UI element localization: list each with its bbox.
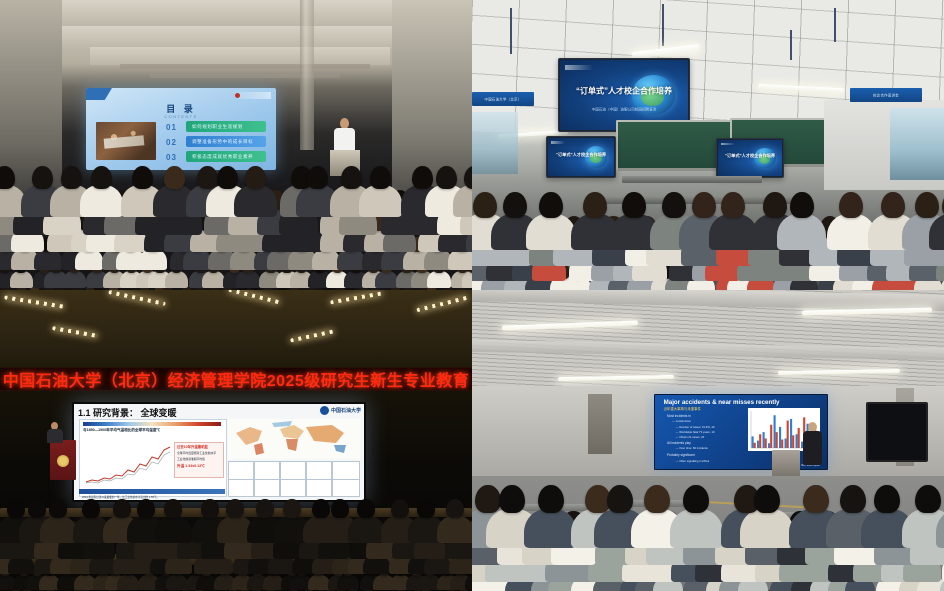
audience-head bbox=[607, 485, 633, 513]
audience-shoulders bbox=[183, 249, 211, 270]
panel-bottom-right: Major accidents & near misses recently 近… bbox=[472, 290, 944, 591]
audience-head bbox=[436, 166, 457, 189]
audience-head bbox=[583, 192, 607, 218]
speaker bbox=[46, 422, 64, 444]
slide-title: “订单式”人才校企合作培养 bbox=[556, 152, 606, 158]
slide-title: Major accidents & near misses recently bbox=[664, 399, 780, 406]
pillar bbox=[300, 0, 314, 150]
audience-head bbox=[790, 192, 814, 218]
audience-shoulders bbox=[117, 575, 139, 591]
slide-bullet: Most incidents in bbox=[667, 414, 691, 418]
slide-logo bbox=[551, 141, 566, 144]
audience-shoulders bbox=[34, 249, 62, 270]
audience-shoulders bbox=[139, 249, 167, 270]
slide-corner-decoration bbox=[86, 88, 112, 100]
audience-shoulders bbox=[75, 249, 103, 270]
audience-head bbox=[754, 485, 780, 513]
audience-head bbox=[839, 192, 863, 218]
audience-head bbox=[622, 192, 646, 218]
slide-bullet: — Others 21 cases, 20 bbox=[676, 435, 705, 439]
banner-text: 中国石油大学（北京） bbox=[485, 97, 522, 102]
chart-title: 与1850—1900年平均气温相比的全球平均温度℃ bbox=[83, 428, 160, 432]
audience-head bbox=[683, 485, 709, 513]
callout-line: 全球平均温度相对工业化前水平 bbox=[177, 451, 216, 455]
led-banner: 中国石油大学（北京）经济管理学院2025级研究生新生专业教育 bbox=[0, 367, 472, 391]
audience-shoulders bbox=[427, 271, 450, 288]
audience-head bbox=[464, 166, 472, 189]
audience-head bbox=[412, 166, 433, 189]
slide-item-label: 如何规划职业生涯规划 bbox=[192, 124, 243, 130]
audience-shoulders bbox=[80, 185, 123, 217]
slide-bullet: Probably significant bbox=[667, 453, 695, 457]
audience-shoulders bbox=[448, 249, 472, 270]
audience-shoulders bbox=[337, 575, 359, 591]
audience-shoulders bbox=[670, 509, 723, 548]
light-rod bbox=[790, 30, 792, 60]
presenter-body bbox=[803, 431, 822, 465]
slide-bullet: — construction bbox=[672, 419, 691, 423]
audience-shoulders bbox=[165, 271, 188, 288]
audience-head bbox=[538, 485, 564, 513]
audience-head bbox=[82, 499, 100, 518]
audience-head bbox=[692, 192, 716, 218]
audience-head bbox=[49, 499, 67, 518]
slide-bullet: — Worldwide fatal 73 years, 10 bbox=[676, 430, 715, 434]
panel-bottom-left: 中国石油大学（北京）经济管理学院2025级研究生新生专业教育 1.1 研究背景：… bbox=[0, 290, 472, 591]
audience-head bbox=[132, 166, 153, 189]
audience-head bbox=[417, 499, 435, 518]
audience-head bbox=[164, 166, 185, 189]
audience-head bbox=[370, 166, 391, 189]
slide-logo bbox=[721, 143, 735, 146]
audience-head bbox=[391, 499, 409, 518]
slide-bullet: — Over time: 60 incidents bbox=[676, 446, 708, 450]
audience-shoulders bbox=[236, 271, 259, 288]
audience-crowd bbox=[472, 461, 944, 591]
audience-shoulders bbox=[308, 575, 330, 591]
audience-crowd bbox=[472, 162, 944, 290]
slide-title: 1.1 研究背景： 全球变暖 bbox=[78, 406, 177, 419]
auditorium-ceiling bbox=[0, 290, 472, 378]
audience-crowd bbox=[0, 476, 472, 591]
ceiling-panel bbox=[39, 0, 442, 26]
banner-text: 校企合作宣讲会 bbox=[873, 93, 899, 98]
banner-left: 中国石油大学（北京） bbox=[472, 92, 534, 106]
ceiling-panel bbox=[90, 47, 390, 65]
audience-head bbox=[61, 166, 82, 189]
audience-head bbox=[341, 166, 362, 189]
slide-title: “订单式”人才校企合作培养 bbox=[725, 153, 775, 159]
light-rod bbox=[834, 8, 836, 42]
audience-head bbox=[446, 499, 464, 518]
audience-head bbox=[357, 499, 375, 518]
audience-head bbox=[283, 499, 301, 518]
audience-head bbox=[763, 192, 787, 218]
audience-head bbox=[113, 499, 131, 518]
slide-subtitle: 中国石油（中国）油服公司校园招聘宣讲 bbox=[592, 108, 657, 113]
audience-shoulders bbox=[375, 271, 398, 288]
audience-shoulders bbox=[155, 516, 192, 543]
ceiling-beam bbox=[120, 64, 370, 69]
audience-head bbox=[28, 499, 46, 518]
callout-line: 工业化前基准期平均值 bbox=[177, 457, 205, 461]
audience-head bbox=[475, 485, 501, 513]
callout-line: 升温 1.34±0.13℃ bbox=[177, 464, 205, 469]
speaker-body bbox=[47, 429, 63, 443]
audience-shoulders bbox=[337, 249, 365, 270]
audience-head bbox=[312, 499, 330, 518]
slide-logo bbox=[235, 92, 271, 99]
callout-heading: 过去10年升温最明显 bbox=[177, 444, 208, 449]
callout-box: 过去10年升温最明显 全球平均温度相对工业化前水平 工业化前基准期平均值 升温 … bbox=[174, 442, 224, 478]
audience-head bbox=[539, 192, 563, 218]
audience-head bbox=[137, 499, 155, 518]
audience-head bbox=[662, 192, 686, 218]
podium bbox=[50, 440, 76, 480]
audience-head bbox=[644, 485, 670, 513]
world-map-svg bbox=[228, 419, 360, 459]
audience-shoulders bbox=[234, 185, 277, 217]
audience-head bbox=[197, 166, 218, 189]
slide-logo bbox=[565, 65, 593, 71]
audience-shoulders bbox=[359, 185, 402, 217]
audience-head bbox=[226, 499, 244, 518]
audience-head bbox=[840, 485, 866, 513]
audience-head bbox=[881, 192, 905, 218]
slide-item-bar: 如何规划职业生涯规划 bbox=[186, 121, 266, 132]
audience-shoulders bbox=[740, 509, 793, 548]
slide-title: “订单式”人才校企合作培养 bbox=[576, 85, 672, 96]
audience-shoulders bbox=[526, 214, 575, 250]
audience-shoulders bbox=[63, 271, 86, 288]
slide-subtitle: 近年重大事故与未遂事件 bbox=[664, 406, 701, 411]
audience-head bbox=[915, 192, 939, 218]
audience-shoulders bbox=[312, 249, 340, 270]
slide-bullet: — Number of cases: 31.6%, 40 bbox=[676, 425, 715, 429]
audience-crowd bbox=[0, 140, 472, 290]
audience-head bbox=[915, 485, 941, 513]
audience-head bbox=[503, 192, 527, 218]
slide-item-number: 01 bbox=[166, 123, 177, 132]
audience-shoulders bbox=[10, 271, 33, 288]
light-rod bbox=[662, 4, 664, 46]
audience-head bbox=[721, 192, 745, 218]
audience-head bbox=[32, 166, 53, 189]
slide-logo: 中国石油大学 bbox=[320, 406, 361, 415]
audience-head bbox=[91, 166, 112, 189]
audience-shoulders bbox=[524, 509, 577, 548]
audience-head bbox=[256, 499, 274, 518]
audience-head bbox=[307, 166, 328, 189]
audience-head bbox=[473, 192, 497, 218]
world-map bbox=[228, 419, 360, 459]
audience-head bbox=[874, 485, 900, 513]
audience-shoulders bbox=[202, 271, 225, 288]
audience-head bbox=[499, 485, 525, 513]
audience-shoulders bbox=[348, 516, 385, 543]
audience-shoulders bbox=[40, 516, 77, 543]
color-scale-bar bbox=[83, 422, 221, 426]
audience-head bbox=[7, 499, 25, 518]
slide-logo-text: 中国石油大学 bbox=[331, 407, 361, 414]
slide-bullet: All incidents play bbox=[667, 441, 691, 445]
light-rod bbox=[510, 8, 512, 54]
audience-shoulders bbox=[777, 214, 826, 250]
audience-head bbox=[201, 499, 219, 518]
wall-tv bbox=[866, 402, 928, 462]
photo-collage: 目 录 CONTENTS 01 如何规划职业生涯规划 02 调整准备形势中的成长… bbox=[0, 0, 944, 591]
ceiling-panel bbox=[59, 26, 421, 48]
audience-head bbox=[331, 499, 349, 518]
audience-head bbox=[0, 166, 15, 189]
led-banner-text: 中国石油大学（北京）经济管理学院2025级研究生新生专业教育 bbox=[3, 367, 470, 391]
panel-top-left: 目 录 CONTENTS 01 如何规划职业生涯规划 02 调整准备形势中的成长… bbox=[0, 0, 472, 290]
audience-shoulders bbox=[166, 575, 188, 591]
audience-head bbox=[164, 499, 182, 518]
panel-top-right: “订单式”人才校企合作培养 中国石油（中国）油服公司校园招聘宣讲 “订单式”人才… bbox=[472, 0, 944, 290]
door bbox=[588, 394, 612, 454]
audience-head bbox=[217, 166, 238, 189]
audience-head bbox=[245, 166, 266, 189]
slide-subtitle: CONTENTS bbox=[164, 114, 197, 119]
banner-right: 校企合作宣讲会 bbox=[850, 88, 922, 102]
audience-head bbox=[803, 485, 829, 513]
